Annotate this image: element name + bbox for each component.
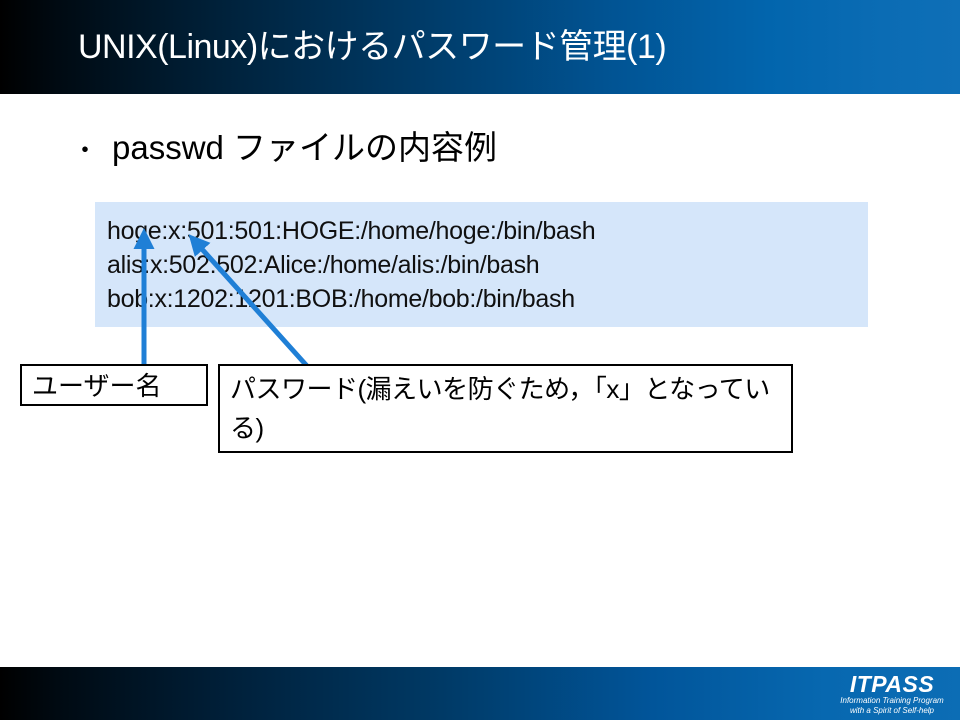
- callout-box-password: パスワード(漏えいを防ぐため，「x」となっている): [218, 364, 793, 453]
- annotation-arrows-layer: [0, 0, 960, 720]
- slide-footer-bar: [0, 667, 960, 720]
- callout-password-label: パスワード(漏えいを防ぐため，「x」となっている): [230, 370, 791, 448]
- slide-header-bar: UNIX(Linux)におけるパスワード管理(1): [0, 0, 960, 94]
- itpass-wordmark: ITPASS: [832, 672, 952, 696]
- bullet-row: ・ passwd ファイルの内容例: [72, 126, 497, 172]
- itpass-tagline-line1: Information Training Program: [832, 696, 952, 706]
- itpass-tagline-line2: with a Spirit of Self-help: [832, 706, 952, 716]
- page-title: UNIX(Linux)におけるパスワード管理(1): [78, 24, 918, 70]
- callout-username-label: ユーザー名: [32, 369, 206, 403]
- callout-box-username: ユーザー名: [20, 364, 208, 406]
- passwd-file-code-block: hoge:x:501:501:HOGE:/home/hoge:/bin/bash…: [95, 202, 868, 327]
- code-line: bob:x:1202:1201:BOB:/home/bob:/bin/bash: [107, 282, 868, 316]
- code-line: hoge:x:501:501:HOGE:/home/hoge:/bin/bash: [107, 214, 868, 248]
- code-line: alis:x:502:502:Alice:/home/alis:/bin/bas…: [107, 248, 868, 282]
- itpass-logo: ITPASS Information Training Program with…: [832, 672, 952, 718]
- bullet-marker-icon: ・: [72, 128, 112, 172]
- bullet-label: passwd ファイルの内容例: [112, 126, 497, 170]
